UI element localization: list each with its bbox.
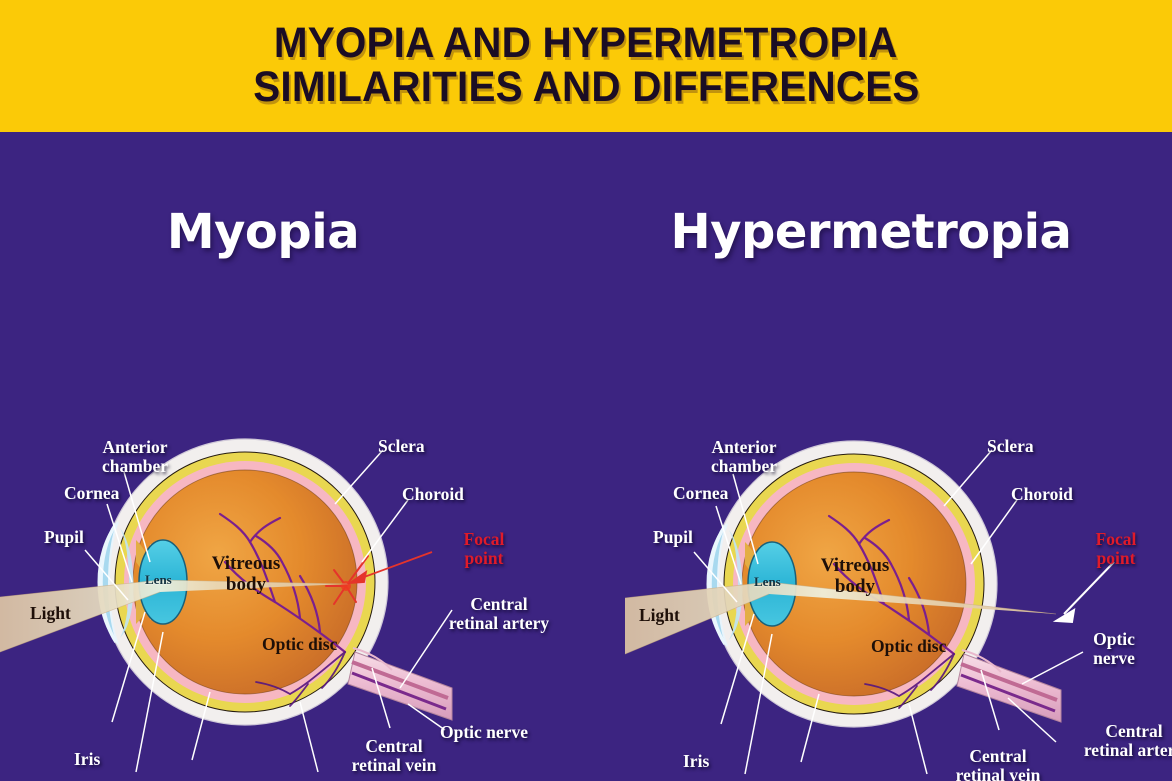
label-optic-disc: Optic disc xyxy=(262,635,337,654)
label-cornea: Cornea xyxy=(64,484,119,503)
label-optic-nerve: Optic nerve xyxy=(440,723,528,742)
label-central-retinal-artery: Central retinal artery xyxy=(425,595,573,633)
label-optic-disc: Optic disc xyxy=(871,637,946,656)
label-light: Light xyxy=(30,604,71,623)
label-lens-left: Lens xyxy=(145,573,172,587)
optic-nerve-structure xyxy=(957,650,1061,722)
label-sclera: Sclera xyxy=(987,437,1034,456)
label-anterior-chamber: Anterior chamber xyxy=(80,438,190,476)
diagram-stage: Myopia xyxy=(0,132,1172,781)
banner-title-line-2: SIMILARITIES AND DIFFERENCES xyxy=(253,66,919,110)
label-light: Light xyxy=(639,606,680,625)
label-lens-right: Lens xyxy=(754,575,781,589)
label-focal-point: Focal point xyxy=(442,530,526,568)
label-vitreous-body: Vitreous body xyxy=(198,554,294,595)
panel-hypermetropia: Hypermetropia xyxy=(586,132,1172,781)
label-cornea: Cornea xyxy=(673,484,728,503)
label-vitreous-body: Vitreous body xyxy=(807,556,903,597)
label-sclera: Sclera xyxy=(378,437,425,456)
label-pupil: Pupil xyxy=(653,528,693,547)
label-central-retinal-vein: Central retinal vein xyxy=(330,737,458,775)
label-optic-nerve: Optic nerve xyxy=(1074,630,1154,668)
banner-title-line-1: MYOPIA AND HYPERMETROPIA xyxy=(274,22,898,66)
hypermetropia-eye-diagram xyxy=(586,132,1172,781)
label-iris: Iris xyxy=(683,752,709,771)
label-pupil: Pupil xyxy=(44,528,84,547)
label-choroid: Choroid xyxy=(402,485,464,504)
label-central-retinal-artery: Central retinal artery xyxy=(1060,722,1172,760)
label-focal-point: Focal point xyxy=(1074,530,1158,568)
label-anterior-chamber: Anterior chamber xyxy=(689,438,799,476)
title-banner: MYOPIA AND HYPERMETROPIA SIMILARITIES AN… xyxy=(0,0,1172,132)
label-iris: Iris xyxy=(74,750,100,769)
panel-myopia: Myopia xyxy=(0,132,586,781)
optic-nerve-structure xyxy=(348,648,452,720)
label-choroid: Choroid xyxy=(1011,485,1073,504)
focal-point-leader xyxy=(1056,562,1114,622)
label-central-retinal-vein: Central retinal vein xyxy=(934,747,1062,781)
